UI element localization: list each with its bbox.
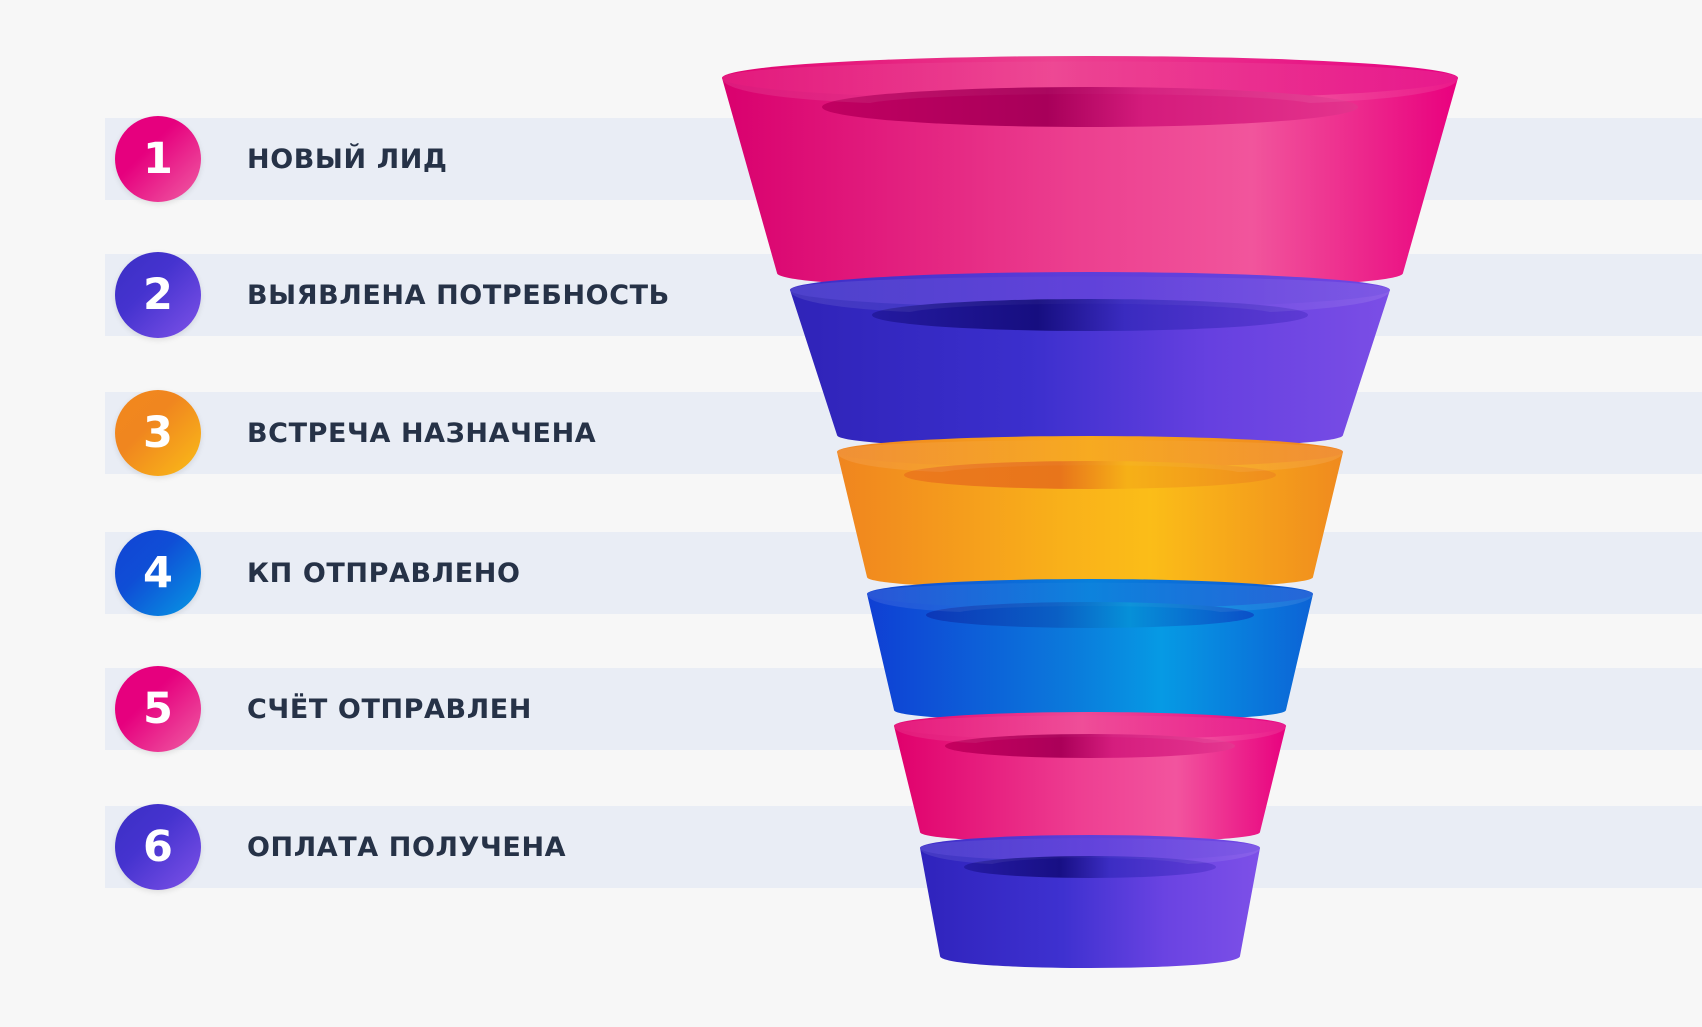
step-label-5: СЧЁТ ОТПРАВЛЕН [247, 694, 532, 725]
step-label-6: ОПЛАТА ПОЛУЧЕНА [247, 832, 566, 863]
funnel-step-1[interactable]: 1 НОВЫЙ ЛИД [0, 116, 448, 202]
funnel-stage-3 [837, 436, 1343, 589]
step-number-3: 3 [143, 412, 173, 455]
step-number-5: 5 [143, 688, 173, 731]
funnel-stage-2 [790, 272, 1390, 449]
step-number-badge-3[interactable]: 3 [115, 390, 201, 476]
step-number-badge-2[interactable]: 2 [115, 252, 201, 338]
funnel-stage-5 [894, 712, 1286, 843]
step-number-badge-5[interactable]: 5 [115, 666, 201, 752]
step-number-badge-4[interactable]: 4 [115, 530, 201, 616]
step-label-4: КП ОТПРАВЛЕНО [247, 558, 521, 589]
step-number-1: 1 [143, 138, 173, 181]
step-number-2: 2 [143, 274, 173, 317]
step-number-4: 4 [143, 552, 173, 595]
funnel-step-3[interactable]: 3 ВСТРЕЧА НАЗНАЧЕНА [0, 390, 596, 476]
funnel-infographic: 1 НОВЫЙ ЛИД 2 ВЫЯВЛЕНА ПОТРЕБНОСТЬ 3 ВСТ… [0, 0, 1702, 1027]
step-number-badge-6[interactable]: 6 [115, 804, 201, 890]
funnel-step-2[interactable]: 2 ВЫЯВЛЕНА ПОТРЕБНОСТЬ [0, 252, 670, 338]
funnel-step-6[interactable]: 6 ОПЛАТА ПОЛУЧЕНА [0, 804, 566, 890]
step-label-2: ВЫЯВЛЕНА ПОТРЕБНОСТЬ [247, 280, 670, 311]
funnel-stage-4 [867, 579, 1313, 721]
funnel-step-5[interactable]: 5 СЧЁТ ОТПРАВЛЕН [0, 666, 532, 752]
funnel-stage-1 [722, 56, 1458, 290]
step-number-badge-1[interactable]: 1 [115, 116, 201, 202]
step-label-1: НОВЫЙ ЛИД [247, 144, 448, 175]
step-number-6: 6 [143, 826, 173, 869]
funnel-stage-6 [920, 835, 1260, 968]
step-label-3: ВСТРЕЧА НАЗНАЧЕНА [247, 418, 596, 449]
funnel-step-4[interactable]: 4 КП ОТПРАВЛЕНО [0, 530, 521, 616]
funnel-graphic [690, 20, 1490, 1010]
